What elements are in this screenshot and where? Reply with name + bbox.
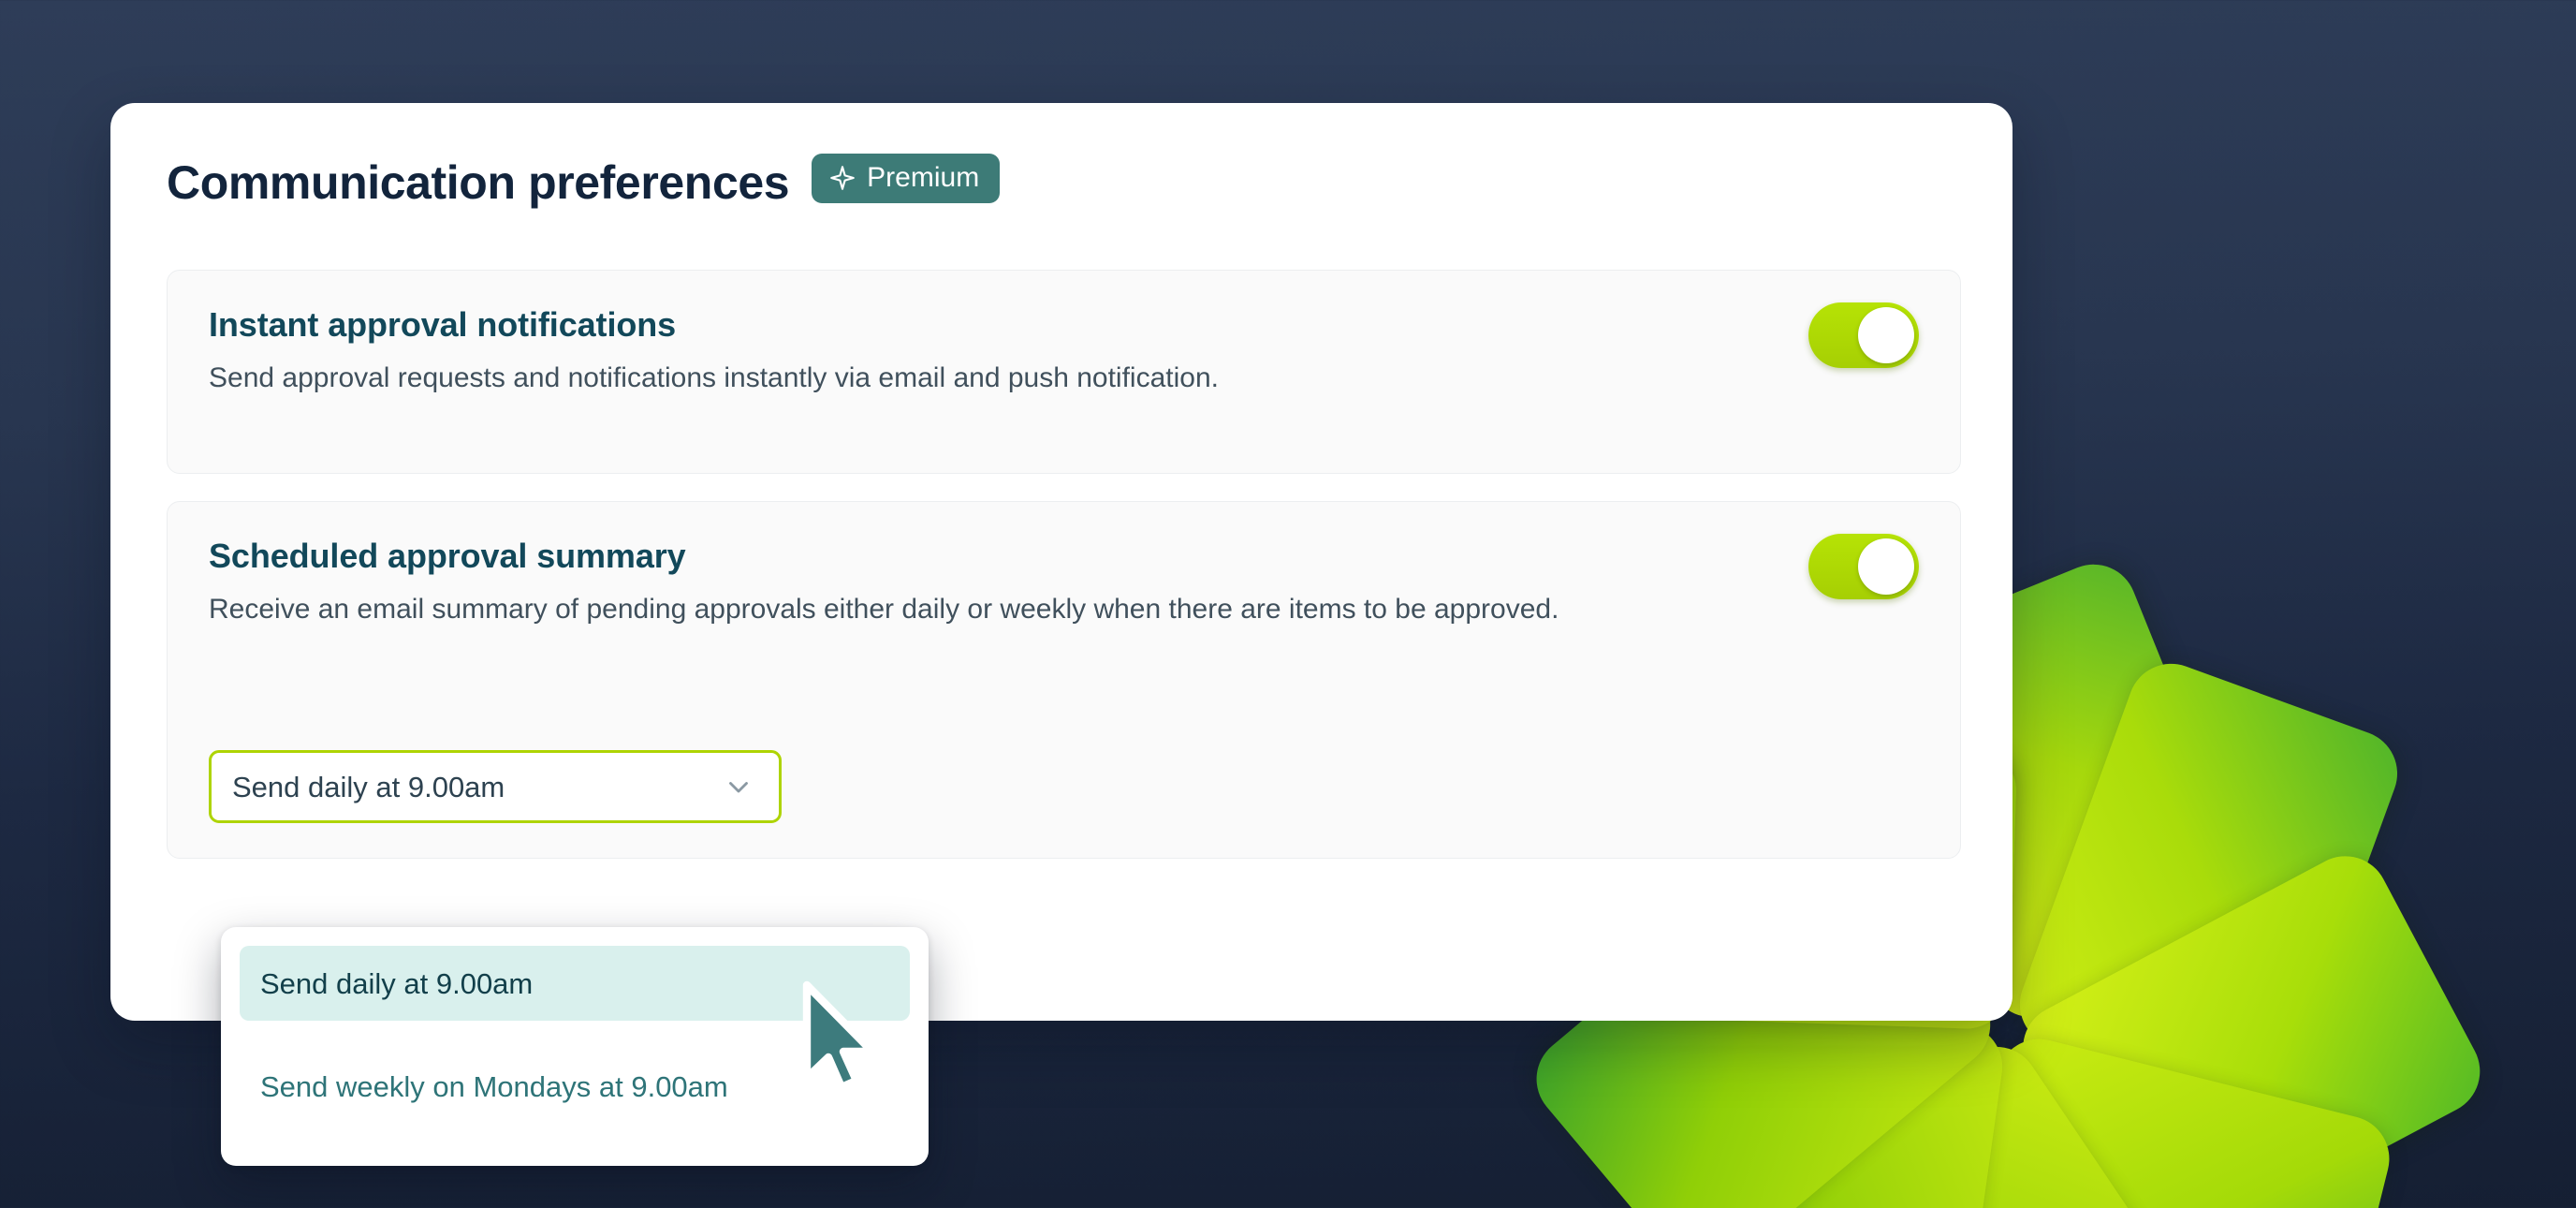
page-title: Communication preferences <box>167 159 789 206</box>
instant-approval-toggle[interactable] <box>1808 302 1919 368</box>
pinwheel-petal <box>2008 652 2409 1127</box>
premium-badge-label: Premium <box>867 164 979 192</box>
toggle-knob <box>1858 307 1914 363</box>
section-description: Receive an email summary of pending appr… <box>209 590 1594 630</box>
pinwheel-petal <box>1674 991 2008 1208</box>
toggle-knob <box>1858 538 1914 595</box>
schedule-frequency-dropdown: Send daily at 9.00am Send weekly on Mond… <box>221 927 929 1166</box>
premium-badge: Premium <box>812 154 1000 203</box>
schedule-frequency-value: Send daily at 9.00am <box>232 773 505 802</box>
section-scheduled-summary: Scheduled approval summary Receive an em… <box>167 501 1961 859</box>
dropdown-option-weekly[interactable]: Send weekly on Mondays at 9.00am <box>240 1049 910 1124</box>
sparkle-icon <box>828 164 856 192</box>
section-title: Instant approval notifications <box>209 306 1919 344</box>
pinwheel-petal <box>2008 841 2495 1208</box>
section-title: Scheduled approval summary <box>209 538 1919 575</box>
preferences-card: Communication preferences Premium Instan… <box>110 103 2012 1021</box>
scheduled-summary-toggle[interactable] <box>1808 534 1919 599</box>
chevron-down-icon <box>723 771 754 803</box>
section-instant-approval: Instant approval notifications Send appr… <box>167 270 1961 474</box>
dropdown-option-daily[interactable]: Send daily at 9.00am <box>240 946 910 1021</box>
pinwheel-petal <box>1939 1030 2398 1208</box>
schedule-frequency-select[interactable]: Send daily at 9.00am <box>209 750 782 823</box>
pinwheel-petal <box>1775 1030 2232 1208</box>
section-description: Send approval requests and notifications… <box>209 359 1594 399</box>
card-header: Communication preferences Premium <box>110 103 2012 207</box>
